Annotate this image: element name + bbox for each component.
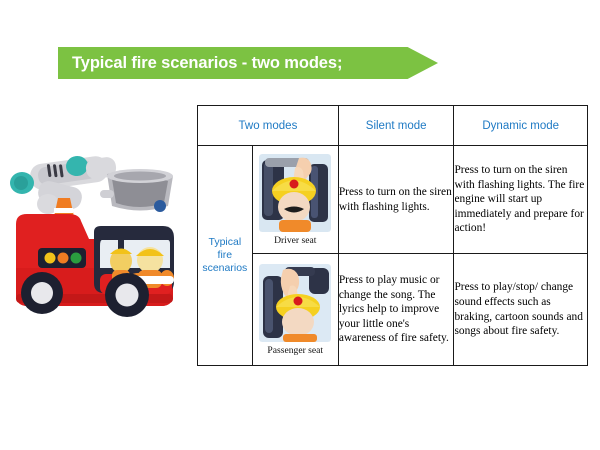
page-title: Typical fire scenarios - two modes; xyxy=(72,47,342,79)
cell-dynamic-mode-row2: Press to play/stop/ change sound effects… xyxy=(454,254,588,366)
passenger-seat-photo-cell: Passenger seat xyxy=(252,254,338,366)
toy-fire-engine-image xyxy=(2,148,198,320)
driver-seat-photo xyxy=(259,154,331,232)
column-header-two-modes: Two modes xyxy=(198,106,339,146)
slide-title-banner: Typical fire scenarios - two modes; xyxy=(58,47,438,79)
column-header-dynamic-mode: Dynamic mode xyxy=(454,106,588,146)
table-row: Passenger seat Press to play music or ch… xyxy=(198,254,588,366)
row-label-line-3: scenarios xyxy=(198,262,252,275)
table-row: Typical fire scenarios xyxy=(198,146,588,254)
fire-engine-illustration xyxy=(2,148,198,320)
cell-silent-mode-row2: Press to play music or change the song. … xyxy=(338,254,454,366)
cell-silent-mode-row1: Press to turn on the siren with flashing… xyxy=(338,146,454,254)
column-header-silent-mode: Silent mode xyxy=(338,106,454,146)
photo-caption: Passenger seat xyxy=(253,345,338,356)
photo-caption: Driver seat xyxy=(253,235,338,246)
rescue-basket xyxy=(100,169,173,212)
driver-seat-photo-cell: Driver seat xyxy=(252,146,338,254)
fire-scenarios-table: Two modes Silent mode Dynamic mode Typic… xyxy=(197,105,588,366)
row-label-typical-fire-scenarios: Typical fire scenarios xyxy=(198,146,253,366)
cell-dynamic-mode-row1: Press to turn on the siren with flashing… xyxy=(454,146,588,254)
row-label-line-2: fire xyxy=(198,249,252,262)
table-header-row: Two modes Silent mode Dynamic mode xyxy=(198,106,588,146)
row-label-line-1: Typical xyxy=(198,236,252,249)
passenger-seat-photo xyxy=(259,264,331,342)
